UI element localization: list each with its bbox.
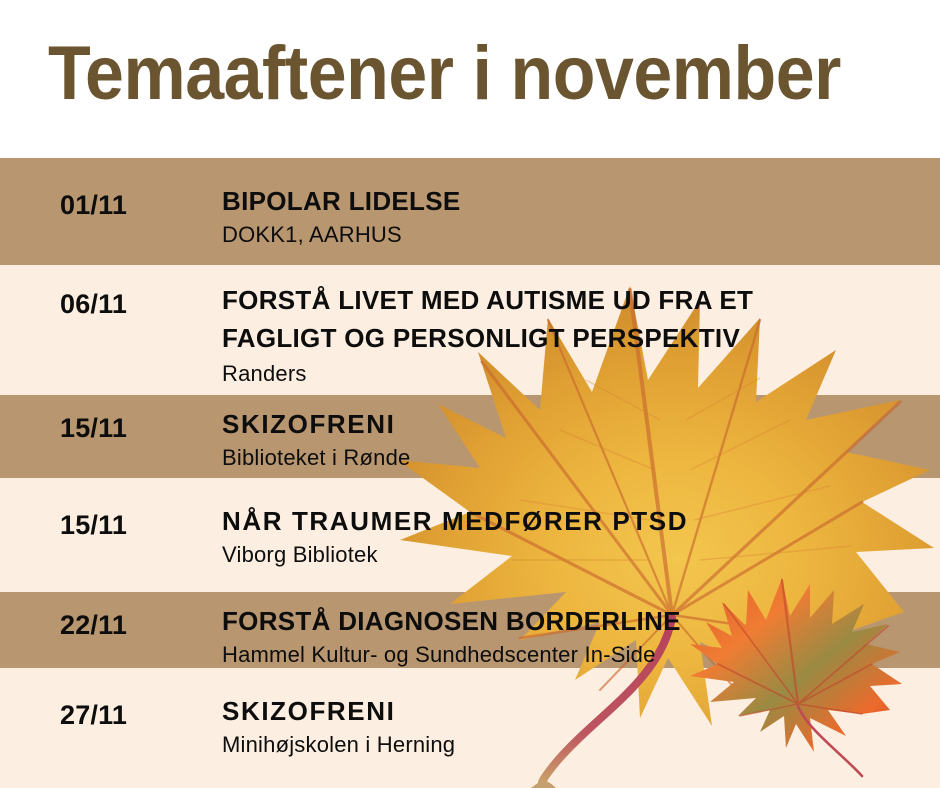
event-date: 15/11 <box>60 510 127 541</box>
page-title: Temaaftener i november <box>48 28 841 120</box>
event-venue: Randers <box>222 359 922 389</box>
event-details: SKIZOFRENI Biblioteket i Rønde <box>222 405 922 473</box>
event-title: FORSTÅ LIVET MED AUTISME UD FRA ET FAGLI… <box>222 281 922 357</box>
event-date: 22/11 <box>60 610 127 641</box>
event-venue: Hammel Kultur- og Sundhedscenter In-Side <box>222 640 922 670</box>
event-venue: DOKK1, AARHUS <box>222 220 922 250</box>
event-venue: Biblioteket i Rønde <box>222 443 922 473</box>
event-title: NÅR TRAUMER MEDFØRER PTSD <box>222 502 922 540</box>
event-details: SKIZOFRENI Minihøjskolen i Herning <box>222 692 922 760</box>
event-row[interactable]: 06/11 FORSTÅ LIVET MED AUTISME UD FRA ET… <box>0 265 940 395</box>
event-details: BIPOLAR LIDELSE DOKK1, AARHUS <box>222 182 922 250</box>
event-title: SKIZOFRENI <box>222 692 922 730</box>
event-details: FORSTÅ DIAGNOSEN BORDERLINE Hammel Kultu… <box>222 602 922 670</box>
event-venue: Minihøjskolen i Herning <box>222 730 922 760</box>
event-date: 27/11 <box>60 700 127 731</box>
event-date: 15/11 <box>60 413 127 444</box>
event-date: 01/11 <box>60 190 127 221</box>
event-venue: Viborg Bibliotek <box>222 540 922 570</box>
event-title: SKIZOFRENI <box>222 405 922 443</box>
event-date: 06/11 <box>60 289 127 320</box>
event-title: FORSTÅ DIAGNOSEN BORDERLINE <box>222 602 922 640</box>
event-title: BIPOLAR LIDELSE <box>222 182 922 220</box>
event-row[interactable]: 15/11 NÅR TRAUMER MEDFØRER PTSD Viborg B… <box>0 478 940 592</box>
event-row[interactable]: 01/11 BIPOLAR LIDELSE DOKK1, AARHUS <box>0 158 940 265</box>
title-bar: Temaaftener i november <box>0 0 940 158</box>
event-details: NÅR TRAUMER MEDFØRER PTSD Viborg Bibliot… <box>222 502 922 570</box>
poster-canvas: Temaaftener i november 01/11 BIPOLAR LID… <box>0 0 940 788</box>
event-details: FORSTÅ LIVET MED AUTISME UD FRA ET FAGLI… <box>222 281 922 389</box>
event-row[interactable]: 22/11 FORSTÅ DIAGNOSEN BORDERLINE Hammel… <box>0 592 940 668</box>
event-row[interactable]: 15/11 SKIZOFRENI Biblioteket i Rønde <box>0 395 940 478</box>
event-row[interactable]: 27/11 SKIZOFRENI Minihøjskolen i Herning <box>0 668 940 788</box>
